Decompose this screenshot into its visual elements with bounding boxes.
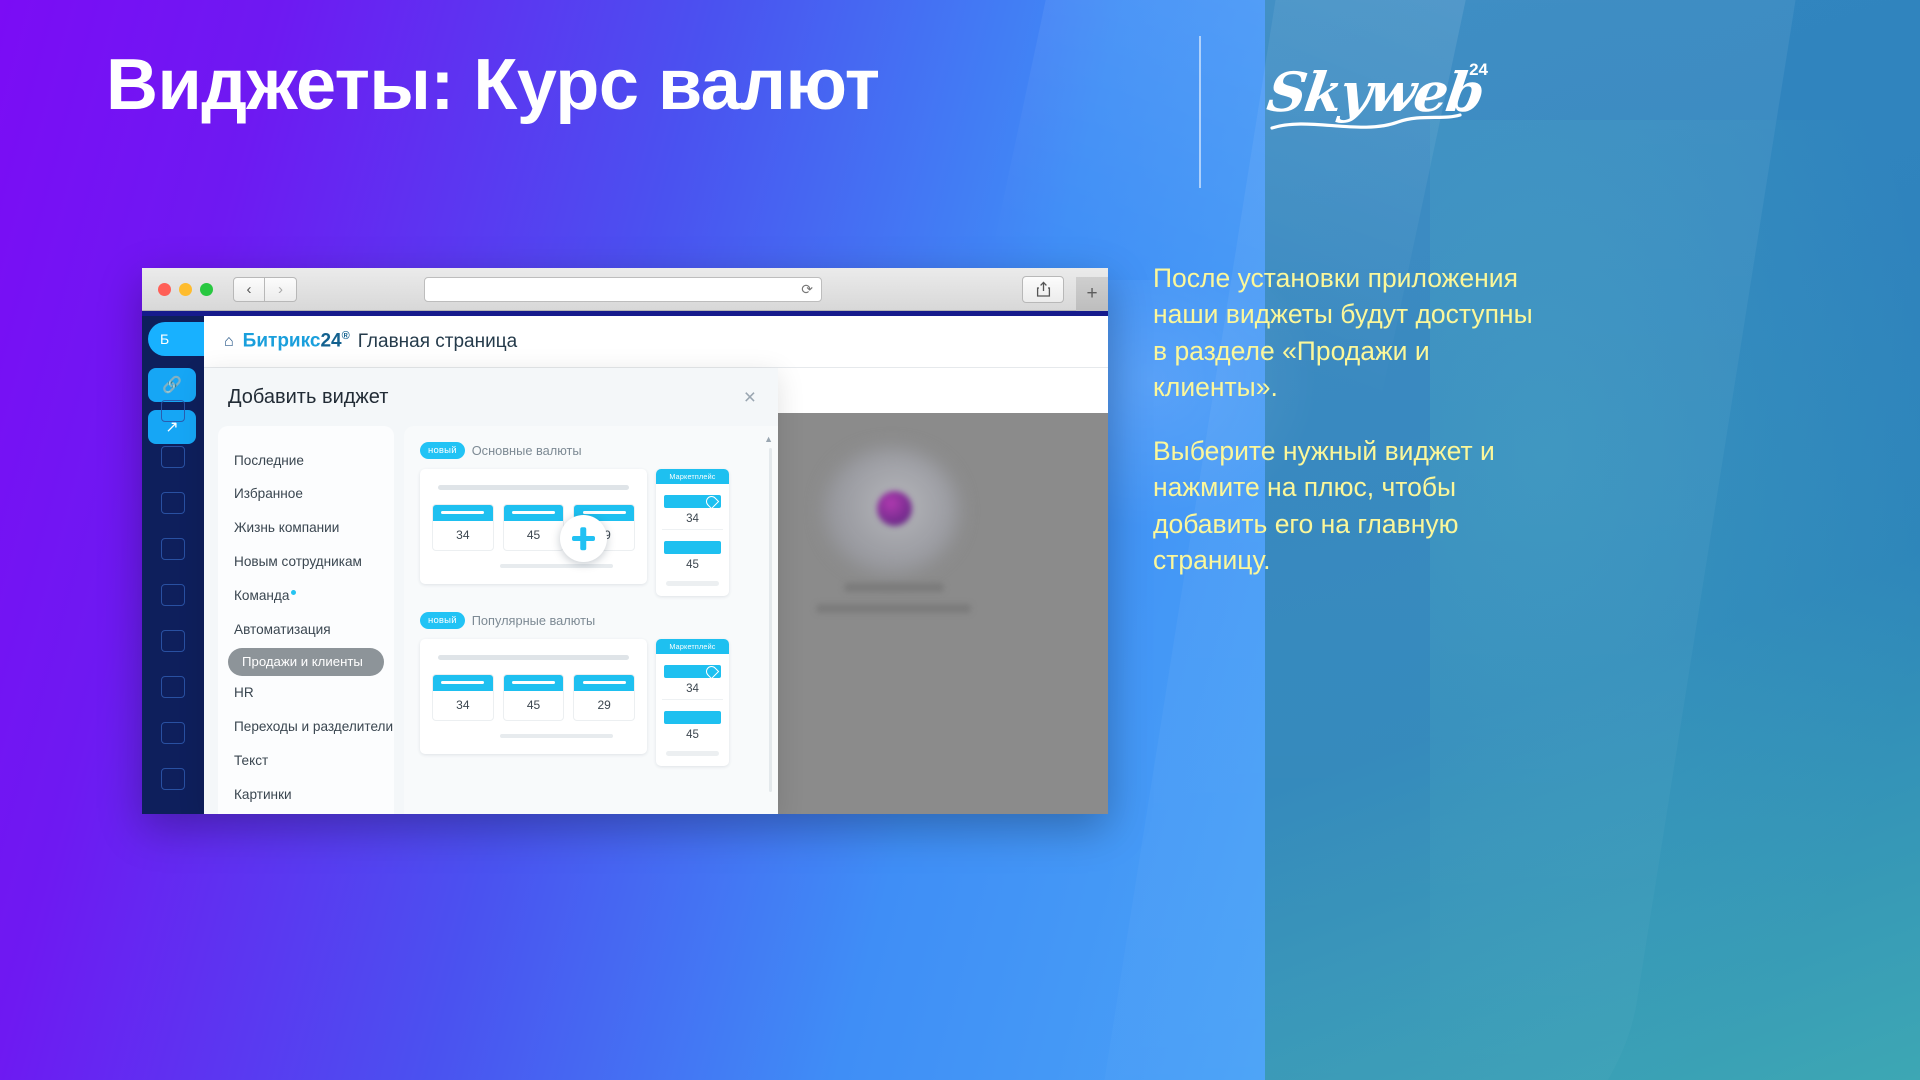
currency-tile-value: 34	[433, 521, 493, 550]
category-item-sales-and-clients[interactable]: Продажи и клиенты	[228, 648, 384, 677]
back-button[interactable]: ‹	[233, 277, 265, 302]
currency-tile-value: 45	[504, 521, 564, 550]
page-title: Виджеты: Курс валют	[106, 48, 880, 124]
minimize-window-button[interactable]	[179, 283, 192, 296]
window-controls[interactable]	[158, 283, 213, 296]
category-item-10[interactable]: Картинки	[218, 778, 394, 812]
currency-tile: 34	[432, 674, 494, 721]
group-icon[interactable]	[161, 768, 185, 790]
widget-group-name: Популярные валюты	[472, 613, 595, 628]
logo-swash-icon	[1268, 112, 1464, 138]
maximize-window-button[interactable]	[200, 283, 213, 296]
dialog-title: Добавить виджет	[228, 386, 388, 409]
new-tab-button[interactable]: +	[1076, 277, 1108, 311]
chat-icon[interactable]	[161, 400, 185, 422]
browser-chrome: ‹ › ⟳ +	[142, 268, 1108, 311]
brand-number: 24	[320, 331, 341, 352]
home-icon[interactable]: ⌂	[224, 333, 234, 351]
scroll-up-icon[interactable]: ▲	[764, 434, 773, 444]
side-copy: После установки приложения наши виджеты …	[1153, 260, 1553, 578]
blurred-accent-dot	[877, 491, 912, 526]
widget-group-main-currencies: новый Основные валюты 34	[404, 426, 778, 596]
drive-icon[interactable]	[161, 630, 185, 652]
category-label: Автоматизация	[234, 622, 331, 637]
category-label: Новым сотрудникам	[234, 554, 362, 569]
currency-tile-bar	[504, 675, 564, 691]
marketplace-bar	[664, 665, 721, 678]
mail-icon[interactable]	[161, 722, 185, 744]
dialog-header: Добавить виджет ×	[204, 368, 778, 426]
placeholder-line	[438, 655, 629, 660]
blurred-text-line	[844, 583, 944, 592]
heart-icon	[704, 664, 720, 680]
browser-window: ‹ › ⟳ + Б 🔗 ↗	[142, 268, 1108, 814]
tasks-icon[interactable]	[161, 538, 185, 560]
close-icon[interactable]: ×	[744, 387, 756, 408]
add-widget-button[interactable]	[560, 515, 607, 562]
category-item-7[interactable]: HR	[218, 676, 394, 710]
currency-tile: 34	[432, 504, 494, 551]
currency-tile-bar	[433, 505, 493, 521]
scrollbar-track[interactable]	[769, 448, 772, 792]
currency-tile-value: 45	[504, 691, 564, 720]
currency-tile-bar	[504, 505, 564, 521]
widget-group-popular-currencies: новый Популярные валюты 34	[404, 596, 778, 766]
category-label: Картинки	[234, 787, 292, 802]
category-label: Текст	[234, 753, 268, 768]
feed-icon[interactable]	[161, 446, 185, 468]
marketplace-widget-card[interactable]: Маркетплейс 34 45	[656, 469, 729, 596]
widget-group-header: новый Основные валюты	[420, 442, 760, 459]
status-badge-marketplace: Маркетплейс	[656, 639, 729, 654]
widget-scrollbar[interactable]: ▲	[769, 434, 774, 804]
placeholder-line	[500, 564, 613, 568]
category-label: Продажи и клиенты	[242, 654, 363, 669]
currency-tile-bar	[574, 675, 634, 691]
currency-tile: 45	[503, 504, 565, 551]
heart-icon	[704, 494, 720, 510]
category-label: Переходы и разделители	[234, 719, 393, 734]
side-copy-paragraph-2: Выберите нужный виджет и нажмите на плюс…	[1153, 433, 1553, 578]
widget-group-header: новый Популярные валюты	[420, 612, 760, 629]
bitrix-sidebar[interactable]: Б 🔗 ↗	[142, 316, 204, 814]
close-window-button[interactable]	[158, 283, 171, 296]
dialog-body: Последние Избранное Жизнь компании Новым…	[204, 426, 778, 814]
brand-registered-icon: ®	[342, 330, 350, 342]
widget-card-preview[interactable]: 34 45 29	[420, 469, 647, 584]
share-icon[interactable]	[1022, 276, 1064, 303]
category-label: Команда	[234, 588, 289, 603]
logo-superscript: 24	[1469, 60, 1488, 80]
browser-viewport: Б 🔗 ↗ ⌂ Битрикс24® Главная страница	[142, 316, 1108, 814]
calendar-icon[interactable]	[161, 492, 185, 514]
marketplace-bar	[664, 495, 721, 508]
logo: Skyweb 24	[1262, 52, 1492, 142]
category-label: HR	[234, 685, 254, 700]
category-item-8[interactable]: Переходы и разделители	[218, 710, 394, 744]
blurred-text-line	[816, 604, 971, 613]
divider	[662, 529, 723, 530]
forward-button[interactable]: ›	[265, 277, 297, 302]
marketplace-bar	[664, 541, 721, 554]
category-label: Последние	[234, 453, 304, 468]
address-bar[interactable]: ⟳	[424, 277, 822, 302]
currency-tile: 29	[573, 674, 635, 721]
marketplace-value: 34	[656, 678, 729, 697]
crm-icon[interactable]	[161, 676, 185, 698]
status-badge-new: новый	[420, 612, 465, 629]
category-item-0[interactable]: Последние	[218, 444, 394, 478]
widget-preview-row: 34 45 29	[420, 469, 760, 596]
currency-tile-value: 34	[433, 691, 493, 720]
status-badge-new: новый	[420, 442, 465, 459]
category-item-3[interactable]: Новым сотрудникам	[218, 546, 394, 580]
bitrix-page-title: Главная страница	[358, 331, 518, 353]
placeholder-line	[666, 751, 719, 756]
bitrix-header: ⌂ Битрикс24® Главная страница	[204, 316, 1108, 368]
currency-tiles: 34 45 29	[432, 674, 635, 721]
logo-divider	[1199, 36, 1201, 188]
currency-tile-value: 29	[574, 691, 634, 720]
widget-gallery: ▲ новый Основные валюты	[404, 426, 778, 814]
category-label: Жизнь компании	[234, 520, 339, 535]
sidebar-link-icon[interactable]: 🔗	[148, 368, 196, 402]
plus-icon	[581, 527, 587, 550]
category-item-2[interactable]: Жизнь компании	[218, 512, 394, 546]
reload-icon[interactable]: ⟳	[801, 281, 813, 298]
side-copy-paragraph-1: После установки приложения наши виджеты …	[1153, 260, 1553, 405]
category-label: Избранное	[234, 486, 303, 501]
category-item-5[interactable]: Автоматизация	[218, 614, 394, 648]
navigation-buttons[interactable]: ‹ ›	[233, 277, 297, 302]
currency-tile: 45	[503, 674, 565, 721]
brand-name: Битрикс	[243, 331, 321, 352]
marketplace-bar	[664, 711, 721, 724]
divider	[662, 699, 723, 700]
new-badge-dot-icon	[291, 590, 296, 595]
placeholder-line	[438, 485, 629, 490]
category-item-4[interactable]: Команда	[218, 580, 394, 614]
bitrix-brand: Битрикс24®	[243, 330, 350, 352]
marketplace-widget-card[interactable]: Маркетплейс 34 45	[656, 639, 729, 766]
add-widget-dialog: Добавить виджет × Последние Избранное Жи…	[204, 368, 778, 814]
currency-tile-bar	[433, 675, 493, 691]
placeholder-line	[666, 581, 719, 586]
widget-preview-row: 34 45 29	[420, 639, 760, 766]
marketplace-value: 34	[656, 508, 729, 527]
category-item-1[interactable]: Избранное	[218, 478, 394, 512]
documents-icon[interactable]	[161, 584, 185, 606]
marketplace-value: 45	[656, 724, 729, 743]
category-item-9[interactable]: Текст	[218, 744, 394, 778]
placeholder-line	[500, 734, 613, 738]
category-list[interactable]: Последние Избранное Жизнь компании Новым…	[218, 426, 394, 814]
widget-group-name: Основные валюты	[472, 443, 582, 458]
status-badge-marketplace: Маркетплейс	[656, 469, 729, 484]
widget-card-preview[interactable]: 34 45 29	[420, 639, 647, 754]
marketplace-value: 45	[656, 554, 729, 573]
